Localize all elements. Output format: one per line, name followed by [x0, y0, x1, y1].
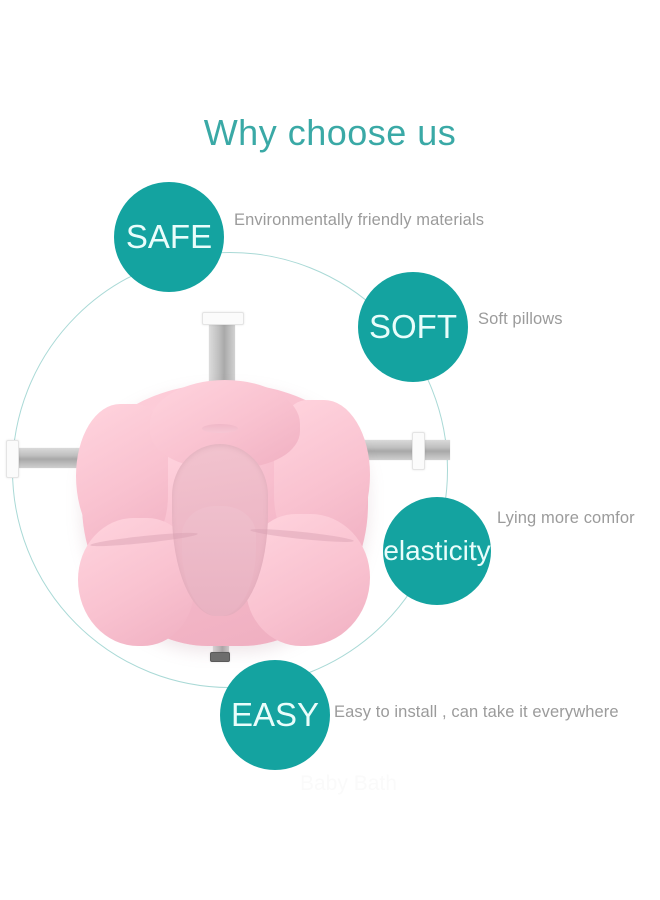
buckle-bottom-icon	[210, 652, 230, 662]
feature-badge-easy-label: EASY	[231, 696, 319, 734]
feature-description-soft: Soft pillows	[478, 310, 563, 329]
feature-badge-easy: EASY	[220, 660, 330, 770]
feature-badge-safe-label: SAFE	[126, 218, 212, 256]
feature-description-elasticity: Lying more comfor	[497, 509, 635, 528]
feature-badge-safe: SAFE	[114, 182, 224, 292]
page-title: Why choose us	[0, 112, 660, 154]
watermark-text: Baby Bath	[300, 772, 397, 796]
buckle-right-icon	[412, 432, 425, 470]
feature-badge-elasticity: elasticity	[383, 497, 491, 605]
feature-badge-soft: SOFT	[358, 272, 468, 382]
buckle-left-icon	[6, 440, 19, 478]
why-choose-us-poster: Why choose us SAFE Environmentally frien…	[0, 0, 660, 900]
feature-badge-elasticity-label: elasticity	[383, 535, 490, 567]
feature-description-easy: Easy to install , can take it everywhere	[334, 703, 619, 722]
feature-badge-soft-label: SOFT	[369, 308, 457, 346]
feature-description-safe: Environmentally friendly materials	[234, 211, 484, 230]
buckle-top-icon	[202, 312, 244, 325]
cushion-head-dimple	[202, 424, 238, 433]
